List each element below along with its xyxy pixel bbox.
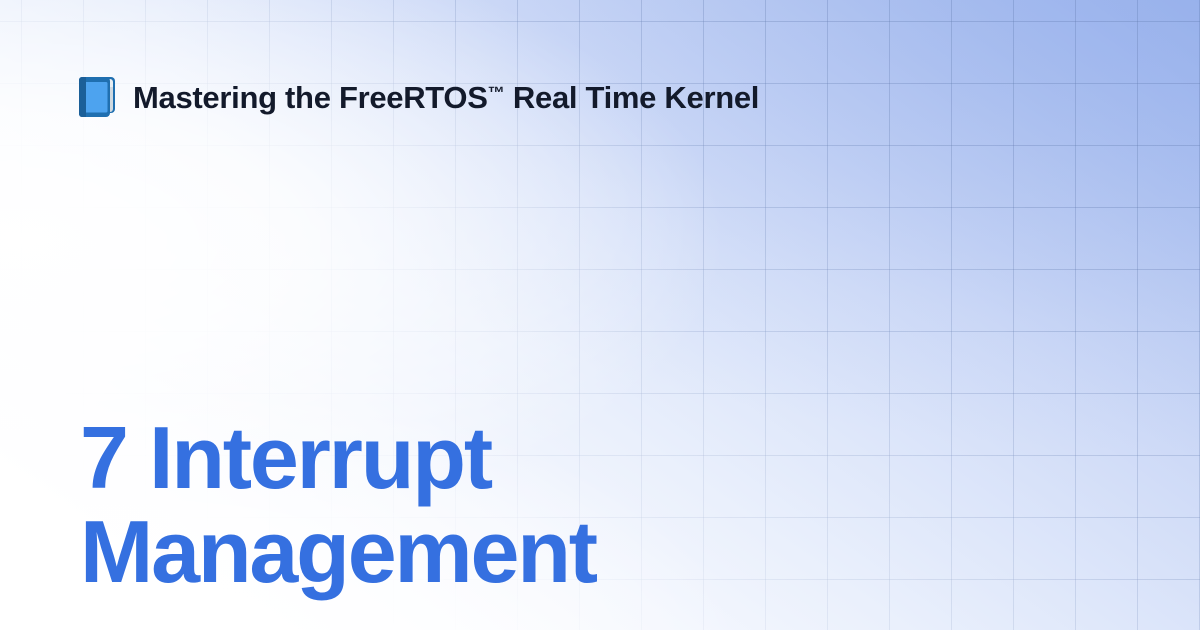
book-title: Mastering the FreeRTOS™ Real Time Kernel bbox=[133, 82, 759, 113]
chapter-title-line-1: 7 Interrupt bbox=[80, 411, 1080, 505]
chapter-title: 7 Interrupt Management bbox=[80, 411, 1080, 599]
book-header: Mastering the FreeRTOS™ Real Time Kernel bbox=[78, 76, 759, 118]
trademark-symbol: ™ bbox=[488, 83, 505, 102]
blue-book-icon bbox=[78, 76, 116, 118]
book-title-suffix: Real Time Kernel bbox=[505, 80, 760, 115]
chapter-cover-card: Mastering the FreeRTOS™ Real Time Kernel… bbox=[0, 0, 1200, 630]
card-content: Mastering the FreeRTOS™ Real Time Kernel… bbox=[0, 0, 1200, 630]
book-title-prefix: Mastering the FreeRTOS bbox=[133, 80, 488, 115]
chapter-title-line-2: Management bbox=[80, 505, 1080, 599]
